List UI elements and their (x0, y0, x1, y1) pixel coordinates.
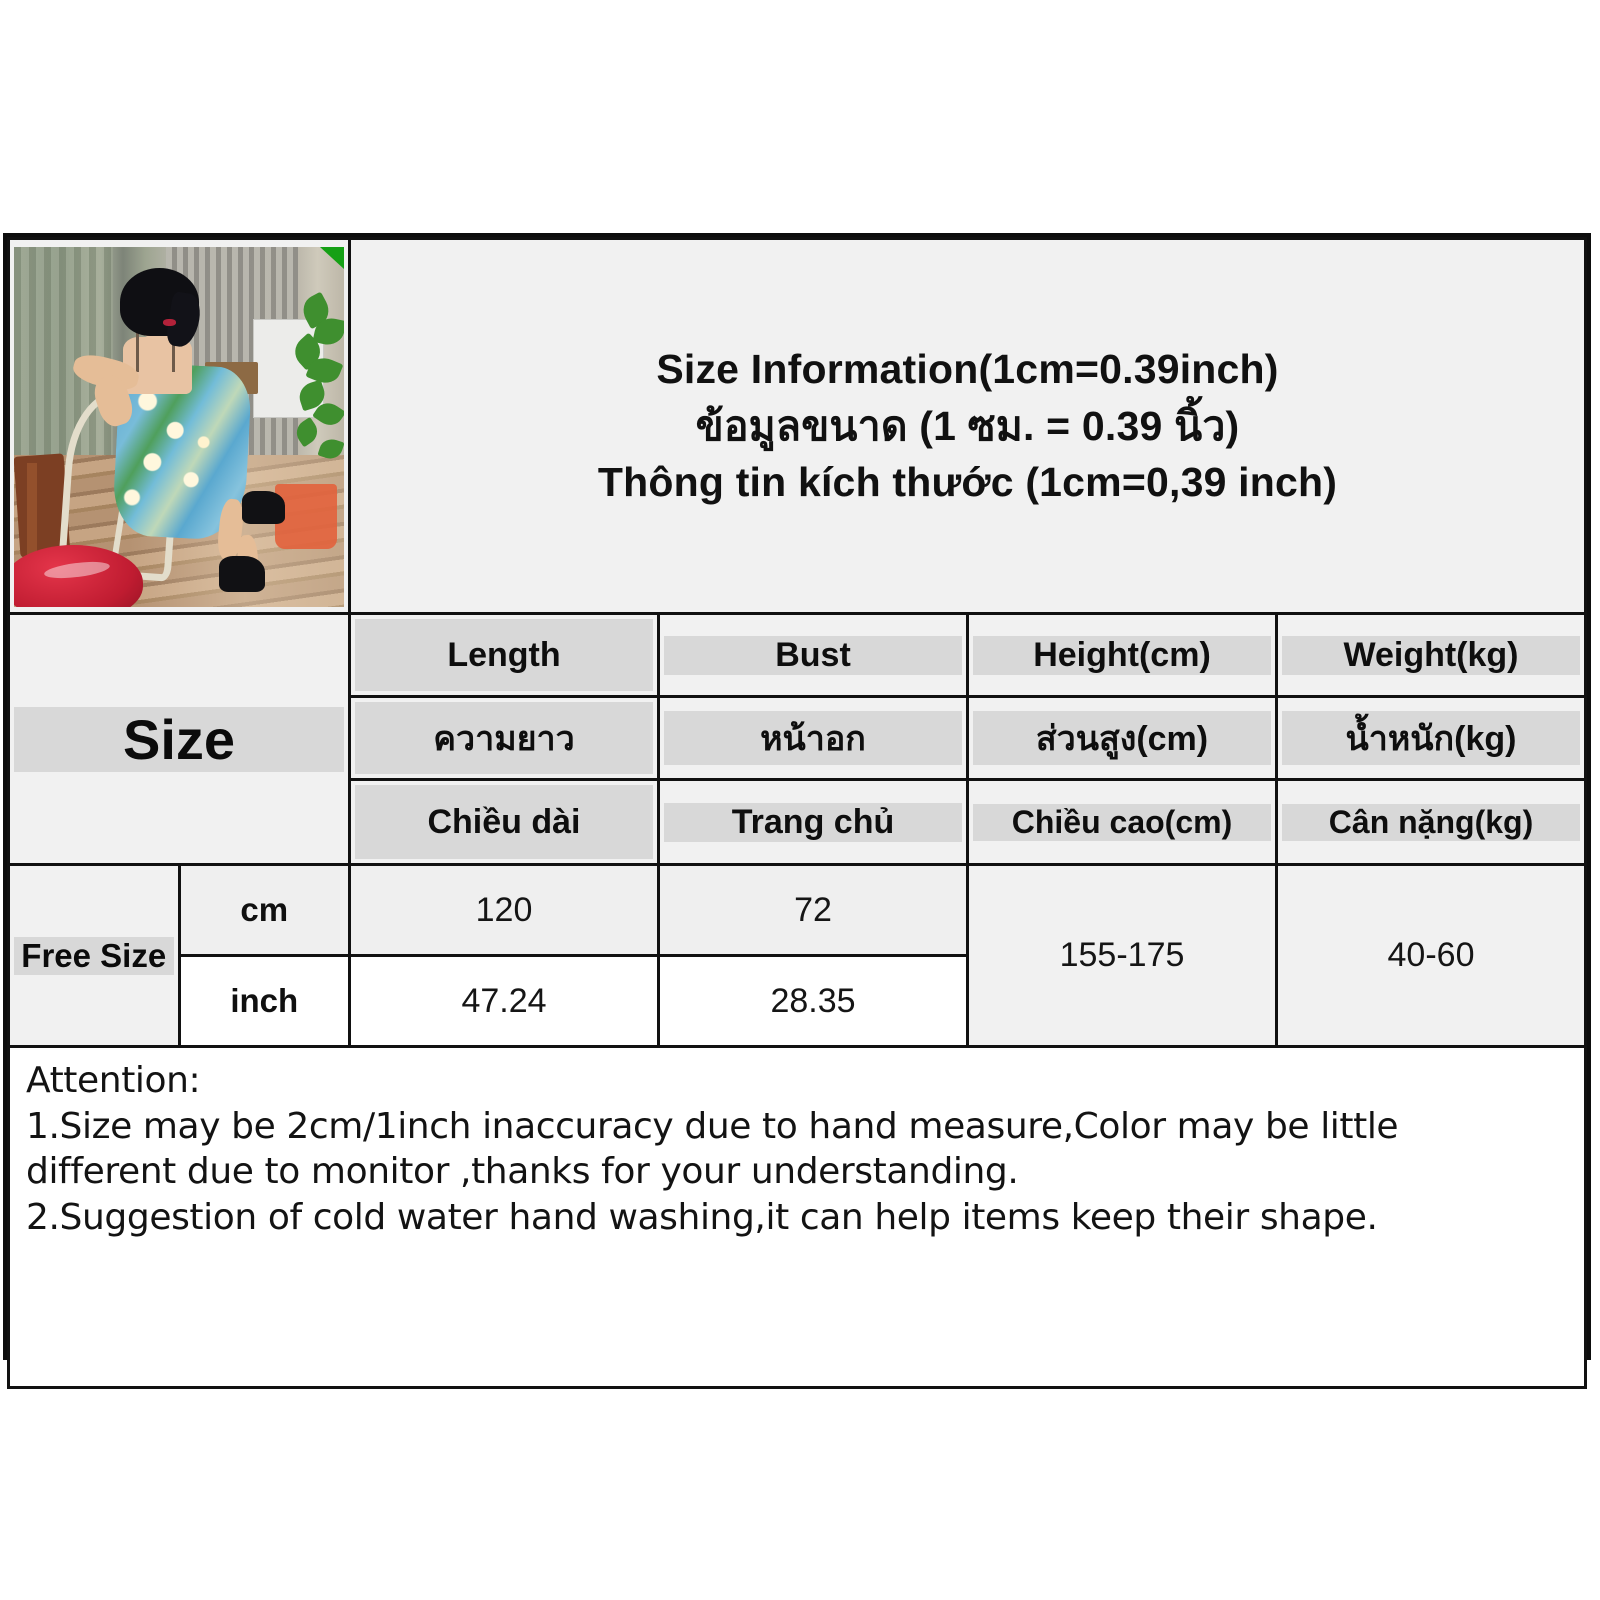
chart-heading-row: Size Information(1cm=0.39inch) ข้อมูลขนา… (9, 239, 1586, 614)
cell-bust-inch-value: 28.35 (770, 982, 855, 1021)
col-header-height-vi-label: Chiều cao(cm) (1012, 804, 1232, 841)
cell-height-range: 155-175 (968, 865, 1277, 1047)
size-chart: Size Information(1cm=0.39inch) ข้อมูลขนา… (3, 233, 1591, 1360)
product-photo-cell (9, 239, 350, 614)
col-header-bust-vi-label: Trang chủ (732, 803, 894, 842)
row-unit-inch-label: inch (230, 982, 298, 1020)
column-header-row-en: Size Length Bust Height(cm) Weight(kg) (9, 614, 1586, 697)
cell-height-range-value: 155-175 (1060, 936, 1185, 975)
col-header-height-th-label: ส่วนสูง(cm) (1036, 711, 1208, 765)
col-header-length-vi: Chiều dài (350, 780, 659, 865)
attention-title: Attention: (26, 1058, 1572, 1104)
col-header-height-en-label: Height(cm) (1033, 636, 1211, 675)
col-header-height-th: ส่วนสูง(cm) (968, 697, 1277, 780)
table-row: Free Size cm 120 72 155-175 (9, 865, 1586, 956)
heading-cell: Size Information(1cm=0.39inch) ข้อมูลขนา… (350, 239, 1586, 614)
col-header-bust-vi: Trang chủ (659, 780, 968, 865)
potted-plant (265, 283, 344, 506)
col-header-length-th-label: ความยาว (433, 711, 574, 765)
col-header-weight-en-label: Weight(kg) (1343, 636, 1518, 675)
corner-marker-icon (320, 247, 344, 269)
col-header-bust-th: หน้าอก (659, 697, 968, 780)
cell-weight-range: 40-60 (1277, 865, 1586, 1047)
col-header-weight-th: น้ำหนัก(kg) (1277, 697, 1586, 780)
col-header-length-th: ความยาว (350, 697, 659, 780)
heading-line-en: Size Information(1cm=0.39inch) (367, 341, 1568, 398)
cell-length-cm-value: 120 (476, 891, 533, 930)
col-header-height-vi: Chiều cao(cm) (968, 780, 1277, 865)
cell-length-inch-value: 47.24 (461, 982, 546, 1021)
cell-length-inch: 47.24 (350, 956, 659, 1047)
cell-length-cm: 120 (350, 865, 659, 956)
col-header-bust-en: Bust (659, 614, 968, 697)
cell-bust-inch: 28.35 (659, 956, 968, 1047)
size-header-label: Size (123, 707, 235, 772)
attention-cell: Attention: 1.Size may be 2cm/1inch inacc… (9, 1047, 1586, 1388)
row-size-free-size: Free Size (9, 865, 180, 1047)
col-header-length-vi-label: Chiều dài (427, 803, 580, 842)
col-header-bust-th-label: หน้าอก (760, 711, 866, 765)
photo-scene (14, 247, 344, 607)
col-header-bust-en-label: Bust (775, 636, 851, 675)
attention-item-1: 1.Size may be 2cm/1inch inaccuracy due t… (26, 1104, 1572, 1150)
size-chart-table: Size Information(1cm=0.39inch) ข้อมูลขนา… (7, 237, 1587, 1389)
attention-row: Attention: 1.Size may be 2cm/1inch inacc… (9, 1047, 1586, 1388)
col-header-height-en: Height(cm) (968, 614, 1277, 697)
row-size-label: Free Size (21, 937, 166, 975)
col-header-weight-th-label: น้ำหนัก(kg) (1346, 711, 1517, 765)
row-unit-inch: inch (179, 956, 350, 1047)
col-header-length-en-label: Length (447, 636, 560, 675)
col-header-weight-vi: Cân nặng(kg) (1277, 780, 1586, 865)
size-header-cell: Size (9, 614, 350, 865)
product-photo (14, 247, 344, 607)
row-unit-cm: cm (179, 865, 350, 956)
col-header-length-en: Length (350, 614, 659, 697)
col-header-weight-en: Weight(kg) (1277, 614, 1586, 697)
row-unit-cm-label: cm (240, 891, 288, 929)
cell-weight-range-value: 40-60 (1388, 936, 1475, 975)
cell-bust-cm-value: 72 (794, 891, 832, 930)
cell-bust-cm: 72 (659, 865, 968, 956)
attention-item-1-cont: different due to monitor ,thanks for you… (26, 1149, 1572, 1195)
heading-line-vi: Thông tin kích thước (1cm=0,39 inch) (367, 454, 1568, 511)
heading-line-th: ข้อมูลขนาด (1 ซม. = 0.39 นิ้ว) (367, 398, 1568, 455)
col-header-weight-vi-label: Cân nặng(kg) (1329, 804, 1533, 841)
attention-item-2: 2.Suggestion of cold water hand washing,… (26, 1195, 1572, 1241)
